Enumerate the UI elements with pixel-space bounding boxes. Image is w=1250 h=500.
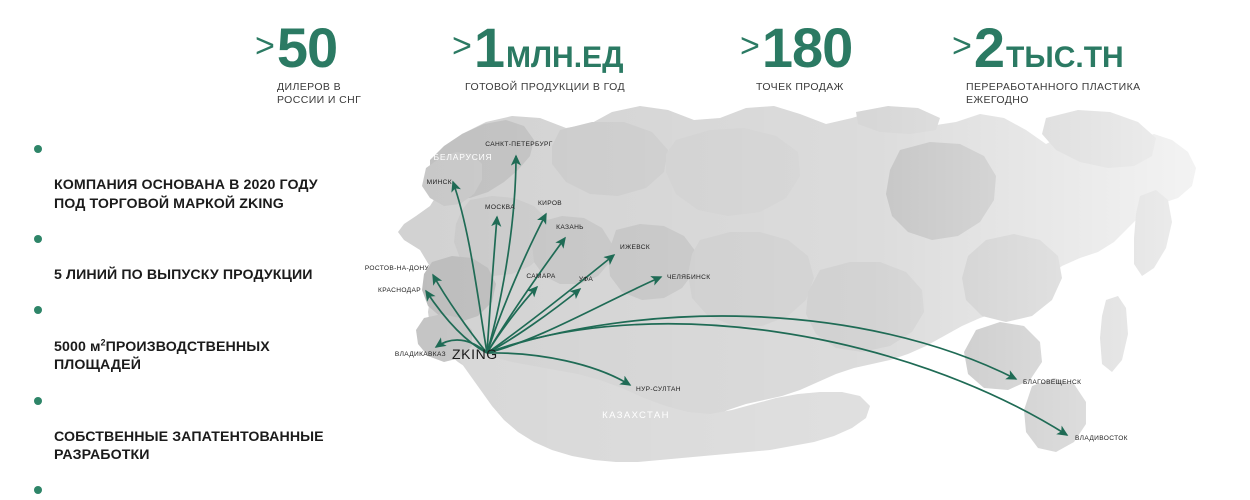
list-item-label: СОБСТВЕННЫЕ ЗАПАТЕНТОВАННЫЕ РАЗРАБОТКИ [54,429,324,463]
greater-than-icon: > [255,29,275,63]
city-label-chelyabinsk: ЧЕЛЯБИНСК [667,274,710,281]
city-label-samara: САМАРА [526,273,556,280]
city-label-blagoveshchensk: БЛАГОВЕЩЕНСК [1023,379,1081,386]
city-label-vladivostok: ВЛАДИВОСТОК [1075,435,1128,442]
stat-block-points-of-sale: > 180 ТОЧЕК ПРОДАЖ [740,20,854,94]
list-item: КОМПАНИЯ ОСНОВАНА В 2020 ГОДУ ПОД ТОРГОВ… [34,140,394,213]
list-item-label: 5 ЛИНИЙ ПО ВЫПУСКУ ПРОДУКЦИИ [54,267,313,283]
city-label-ufa: УФА [579,276,594,283]
list-item-label: КОМПАНИЯ ОСНОВАНА В 2020 ГОДУ ПОД ТОРГОВ… [54,177,318,211]
greater-than-icon: > [952,29,972,63]
list-item: 5000 м2ПРОИЗВОДСТВЕННЫХПЛОЩАДЕЙ [34,301,394,374]
stat-unit: МЛН.ЕД [506,43,623,73]
stat-caption: ДИЛЕРОВ В РОССИИ И СНГ [277,81,361,107]
bullet-dot-icon [34,145,42,153]
stat-block-recycled-plastic: > 2 ТЫС.ТН ПЕРЕРАБОТАННОГО ПЛАСТИКА ЕЖЕГ… [952,20,1141,107]
feature-bullet-list: КОМПАНИЯ ОСНОВАНА В 2020 ГОДУ ПОД ТОРГОВ… [34,140,394,500]
stat-number: 180 [762,20,852,76]
list-item: 5 ЛИНИЙ ПО ВЫПУСКУ ПРОДУКЦИИ [34,230,394,285]
stat-unit: ТЫС.ТН [1006,43,1124,73]
city-label-moskva: МОСКВА [485,204,515,211]
stat-headline: > 1 МЛН.ЕД [452,20,625,76]
stat-block-production: > 1 МЛН.ЕД ГОТОВОЙ ПРОДУКЦИИ В ГОД [452,20,625,94]
stat-number: 2 [974,20,1004,76]
greater-than-icon: > [452,29,472,63]
infographic-root: БЕЛАРУСИЯ КАЗАХСТАН САНКТ-ПЕТЕРБУРГ МИНС… [0,0,1250,500]
country-label-belarus: БЕЛАРУСИЯ [434,152,493,162]
city-label-vladikavkaz: ВЛАДИКАВКАЗ [395,351,446,358]
stat-block-dealers: > 50 ДИЛЕРОВ В РОССИИ И СНГ [255,20,361,107]
bullet-dot-icon [34,235,42,243]
bullet-dot-icon [34,486,42,494]
hub-label-zking: ZKING [452,346,498,362]
stats-row: > 50 ДИЛЕРОВ В РОССИИ И СНГ > 1 МЛН.ЕД Г… [0,0,1250,112]
city-label-kirov: КИРОВ [538,200,562,207]
list-item: СОБСТВЕННЫЕ ЗАПАТЕНТОВАННЫЕ РАЗРАБОТКИ [34,392,394,465]
stat-number: 1 [474,20,504,76]
bullet-dot-icon [34,306,42,314]
stat-caption: ПЕРЕРАБОТАННОГО ПЛАСТИКА ЕЖЕГОДНО [966,81,1141,107]
country-label-kazakhstan: КАЗАХСТАН [602,410,670,421]
stat-caption: ГОТОВОЙ ПРОДУКЦИИ В ГОД [465,81,625,94]
stat-headline: > 50 [255,20,361,76]
stat-number: 50 [277,20,337,76]
greater-than-icon: > [740,29,760,63]
list-item-label: 5000 м2ПРОИЗВОДСТВЕННЫХПЛОЩАДЕЙ [54,339,270,373]
city-label-nur-sultan: НУР-СУЛТАН [636,386,681,393]
stat-caption: ТОЧЕК ПРОДАЖ [756,81,854,94]
bullet-dot-icon [34,397,42,405]
list-item: ШИРОКИЙ АССОРТИМЕНТ ПРОДУКЦИИ [34,481,394,500]
city-label-kazan: КАЗАНЬ [556,224,584,231]
city-label-sankt-peterburg: САНКТ-ПЕТЕРБУРГ [485,141,552,148]
stat-headline: > 180 [740,20,854,76]
city-label-minsk: МИНСК [427,179,452,186]
city-label-izhevsk: ИЖЕВСК [620,244,650,251]
stat-headline: > 2 ТЫС.ТН [952,20,1141,76]
